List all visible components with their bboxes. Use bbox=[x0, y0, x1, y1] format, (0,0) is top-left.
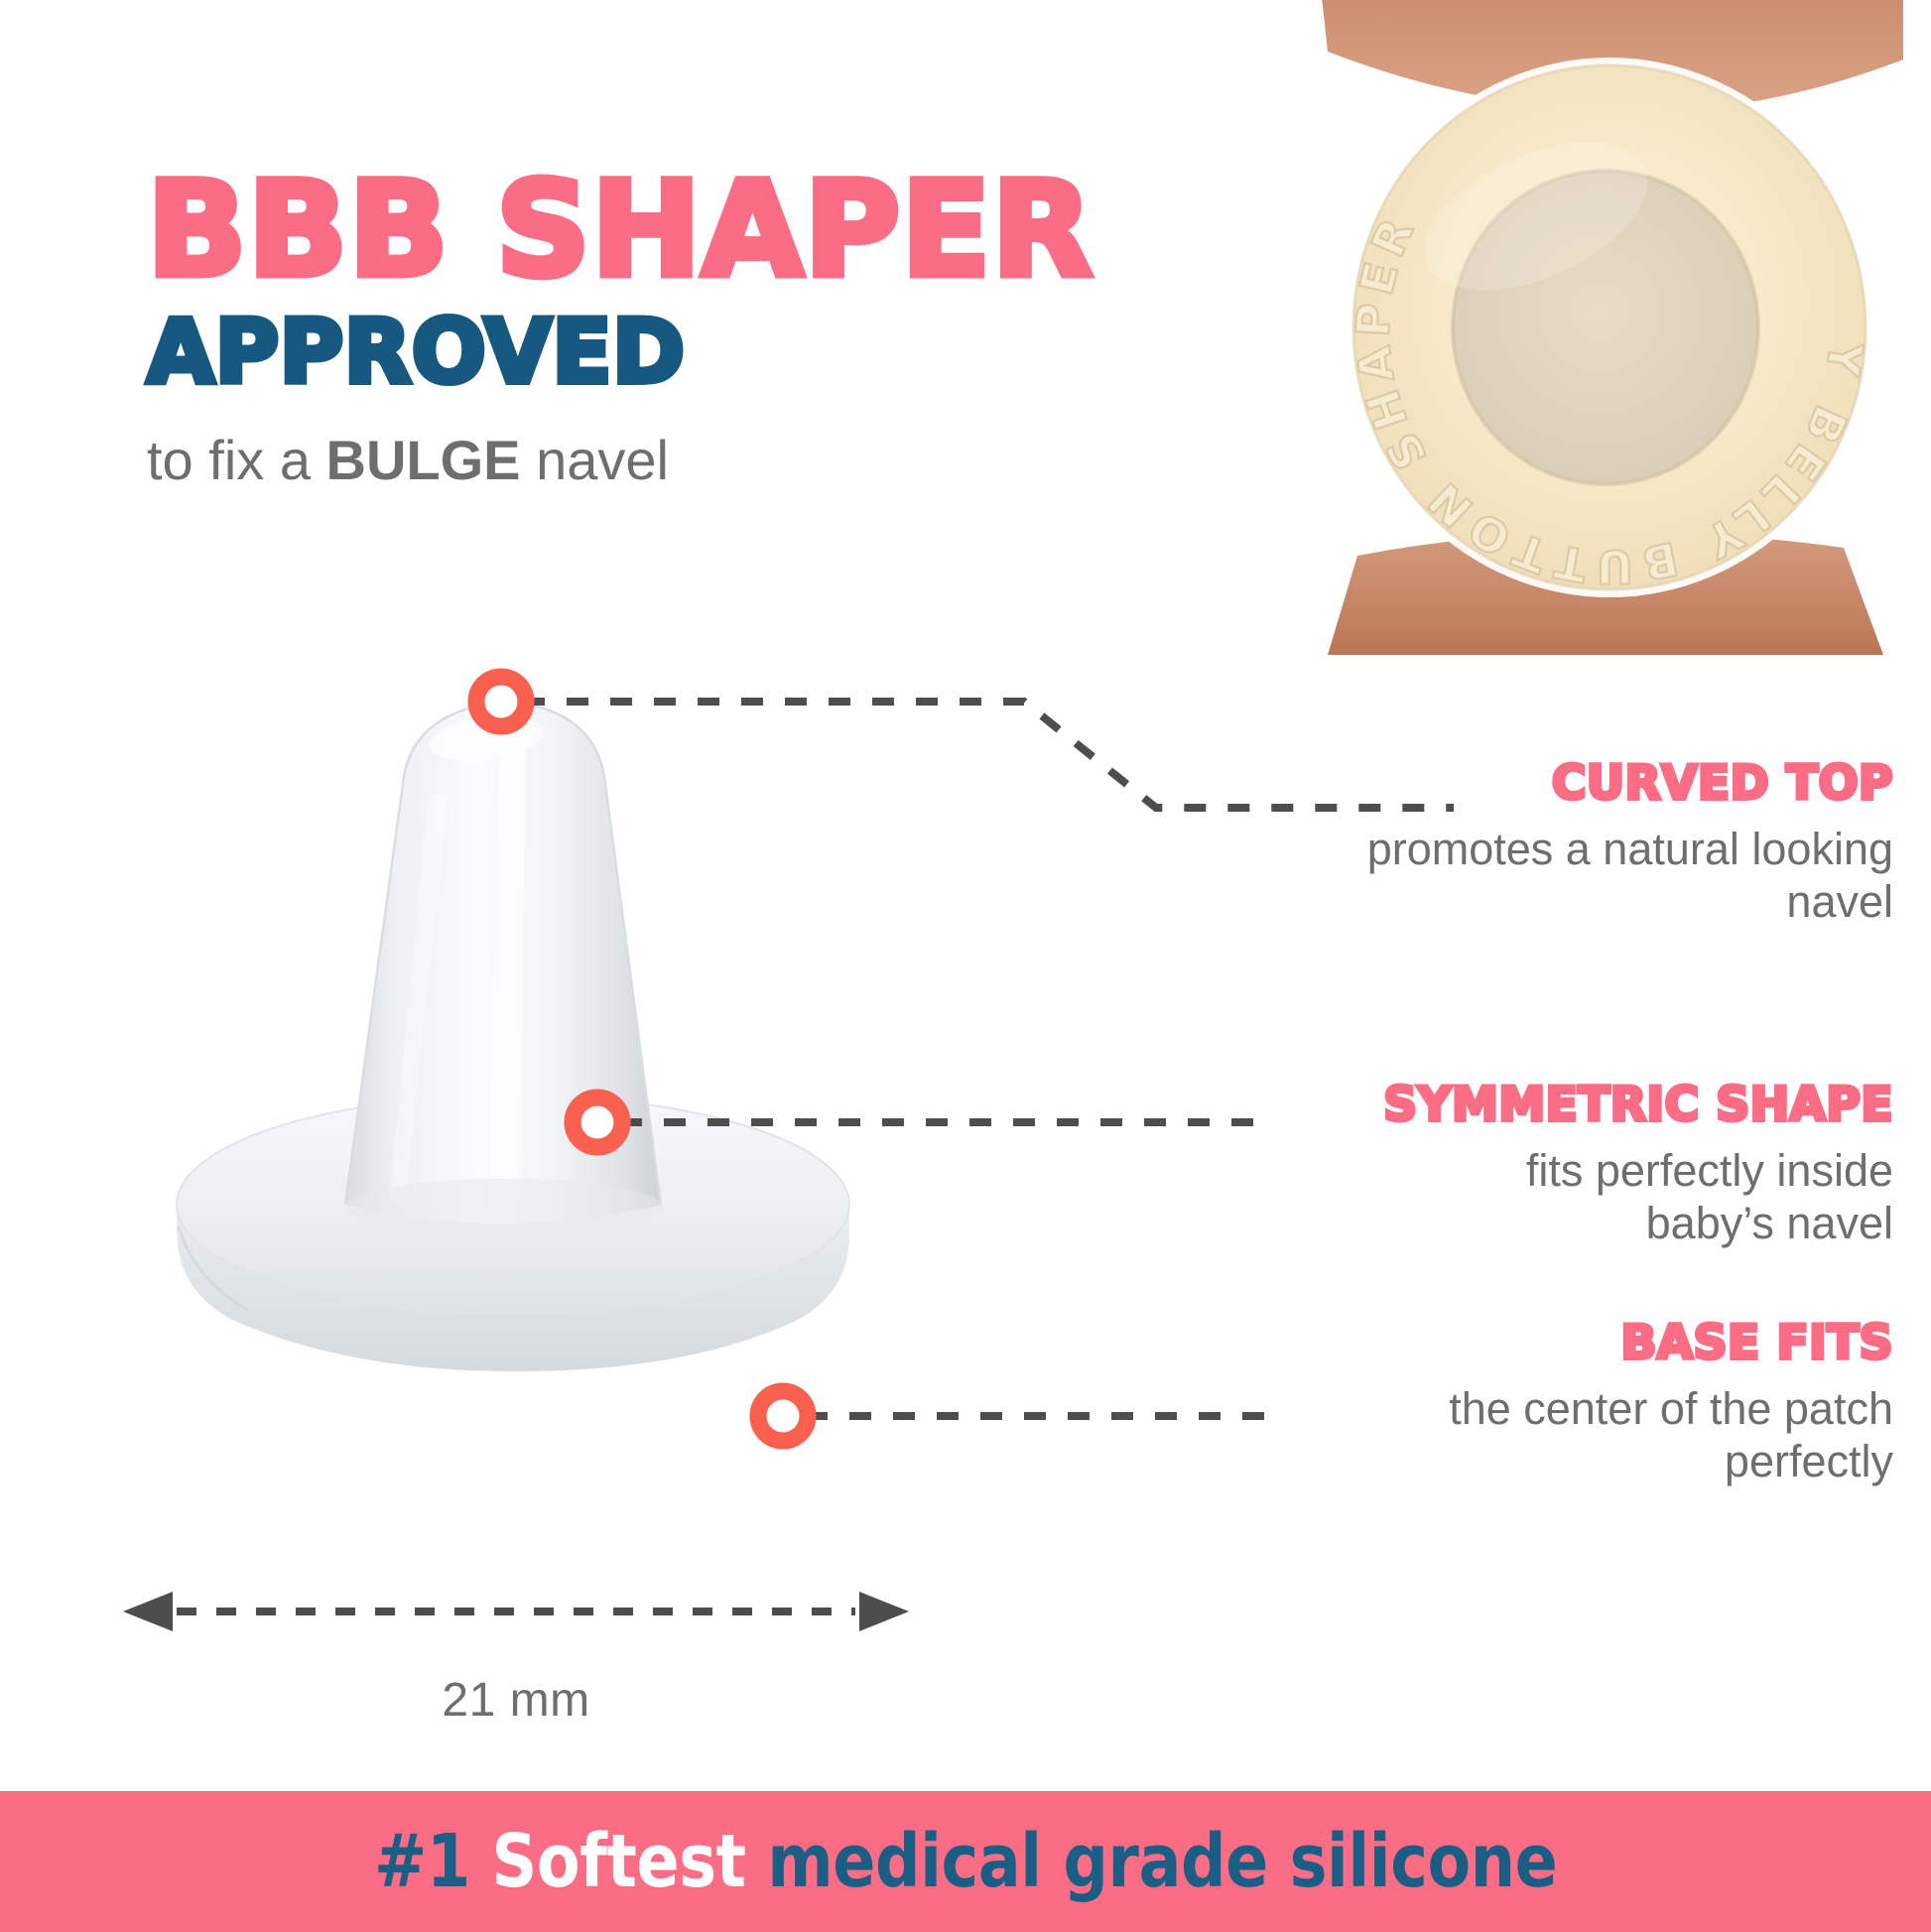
feature-title: BASE FITS bbox=[1278, 1320, 1893, 1366]
feature-body-line: fits perfectly inside bbox=[1278, 1144, 1893, 1197]
banner-part-highlight: Softest bbox=[491, 1819, 745, 1904]
feature-body: the center of the patch perfectly bbox=[1278, 1382, 1893, 1487]
feature-body-line: navel bbox=[1278, 875, 1893, 928]
product-illustration bbox=[99, 635, 992, 1578]
feature-body-line: promotes a natural looking bbox=[1278, 823, 1893, 875]
subtitle-prefix: to fix a bbox=[147, 429, 326, 491]
banner-text: #1 Softest medical grade silicone bbox=[374, 1819, 1557, 1904]
bottom-banner: #1 Softest medical grade silicone bbox=[0, 1791, 1931, 1932]
feature-block-symmetric-shape: SYMMETRIC SHAPE fits perfectly inside ba… bbox=[1278, 1082, 1893, 1249]
headline-block: BBB SHAPER APPROVED to fix a BULGE navel bbox=[147, 167, 1258, 491]
infographic-canvas: BBB SHAPER APPROVED to fix a BULGE navel bbox=[0, 0, 1931, 1932]
dimension-indicator: 21 mm bbox=[119, 1588, 913, 1766]
headline-subtitle: to fix a BULGE navel bbox=[147, 430, 1258, 491]
feature-title: CURVED TOP bbox=[1278, 760, 1893, 807]
feature-block-base-fits: BASE FITS the center of the patch perfec… bbox=[1278, 1320, 1893, 1487]
subtitle-emphasis: BULGE bbox=[326, 429, 521, 491]
product-photo-inset: BABY BELLY BUTTON SHAPER bbox=[1288, 0, 1931, 655]
approved-label: APPROVED bbox=[147, 309, 1258, 396]
subtitle-suffix: navel bbox=[521, 429, 669, 491]
feature-block-curved-top: CURVED TOP promotes a natural looking na… bbox=[1278, 760, 1893, 928]
feature-body: promotes a natural looking navel bbox=[1278, 823, 1893, 928]
banner-part-number: #1 bbox=[374, 1819, 491, 1904]
feature-body: fits perfectly inside baby’s navel bbox=[1278, 1144, 1893, 1249]
arrow-left-icon bbox=[123, 1592, 173, 1631]
banner-part-rest: medical grade silicone bbox=[745, 1819, 1557, 1904]
arrow-right-icon bbox=[859, 1592, 909, 1631]
page-title: BBB SHAPER bbox=[147, 167, 1258, 295]
dimension-label: 21 mm bbox=[119, 1673, 913, 1728]
feature-title: SYMMETRIC SHAPE bbox=[1278, 1082, 1893, 1128]
feature-body-line: baby’s navel bbox=[1278, 1197, 1893, 1249]
feature-body-line: the center of the patch bbox=[1278, 1382, 1893, 1435]
feature-body-line: perfectly bbox=[1278, 1435, 1893, 1487]
